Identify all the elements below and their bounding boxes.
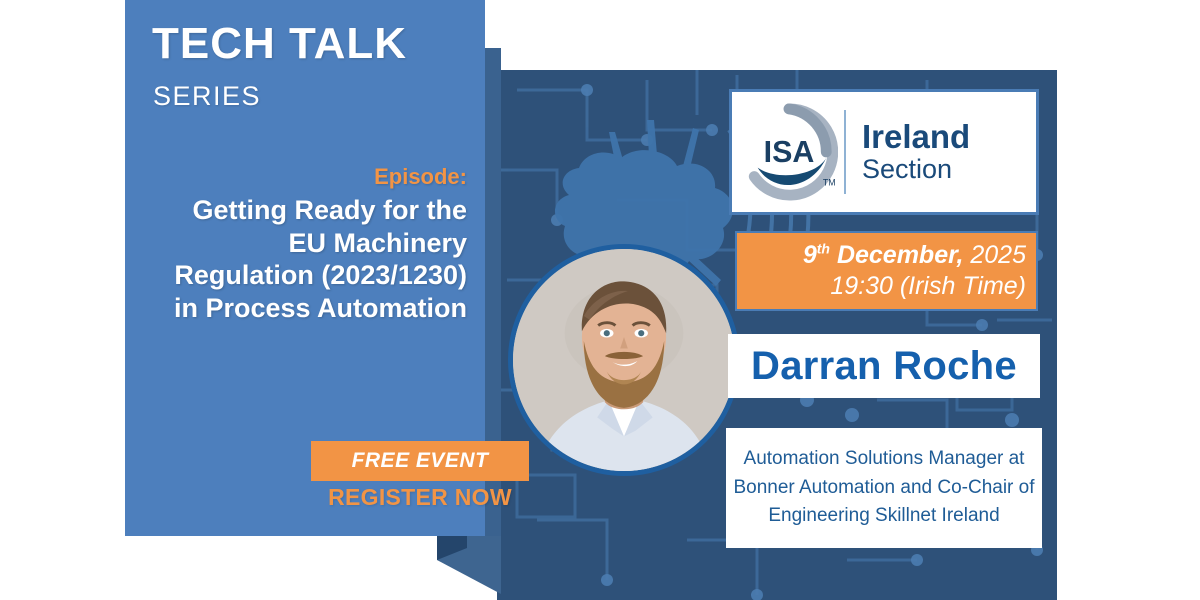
logo-section-label: Section <box>862 155 970 185</box>
ribbon-tail-shape <box>437 536 501 594</box>
speaker-bio: Automation Solutions Manager at Bonner A… <box>726 445 1042 532</box>
event-date-line: 9th December, 2025 <box>803 240 1026 271</box>
event-year: 2025 <box>970 241 1026 269</box>
speaker-avatar <box>508 244 740 476</box>
isa-wordmark: ISA <box>764 135 815 169</box>
free-event-label: FREE EVENT <box>352 449 489 473</box>
free-event-badge: FREE EVENT <box>311 441 529 481</box>
episode-label: Episode: <box>374 164 467 190</box>
trademark-symbol: TM <box>823 177 836 187</box>
episode-title: Getting Ready for the EU Machinery Regul… <box>167 194 467 325</box>
register-now-label: REGISTER NOW <box>328 484 512 510</box>
speaker-portrait-illustration <box>513 249 735 471</box>
series-subtitle: SERIES <box>153 83 261 110</box>
speaker-name-box: Darran Roche <box>728 334 1040 398</box>
speaker-bio-box: Automation Solutions Manager at Bonner A… <box>726 428 1042 548</box>
event-day: 9 <box>803 241 817 269</box>
isa-ireland-section-logo-box: ISA TM Ireland Section <box>729 89 1039 215</box>
left-light-panel: TECH TALK SERIES Episode: Getting Ready … <box>125 0 485 536</box>
event-time: 19:30 (Irish Time) <box>830 271 1026 302</box>
event-month: December <box>837 241 957 269</box>
tech-talk-event-poster: TECH TALK SERIES Episode: Getting Ready … <box>0 0 1200 600</box>
register-now-button[interactable]: REGISTER NOW <box>311 484 529 511</box>
speaker-name: Darran Roche <box>751 344 1017 389</box>
logo-country-label: Ireland <box>862 119 970 155</box>
isa-circular-swoosh-icon: ISA TM <box>740 103 838 201</box>
logo-divider <box>844 110 846 194</box>
event-datetime-banner: 9th December, 2025 19:30 (Irish Time) <box>735 231 1038 311</box>
logo-org-name: Ireland Section <box>862 119 970 184</box>
event-day-suffix: th <box>817 240 830 256</box>
page-title: TECH TALK <box>152 22 407 66</box>
